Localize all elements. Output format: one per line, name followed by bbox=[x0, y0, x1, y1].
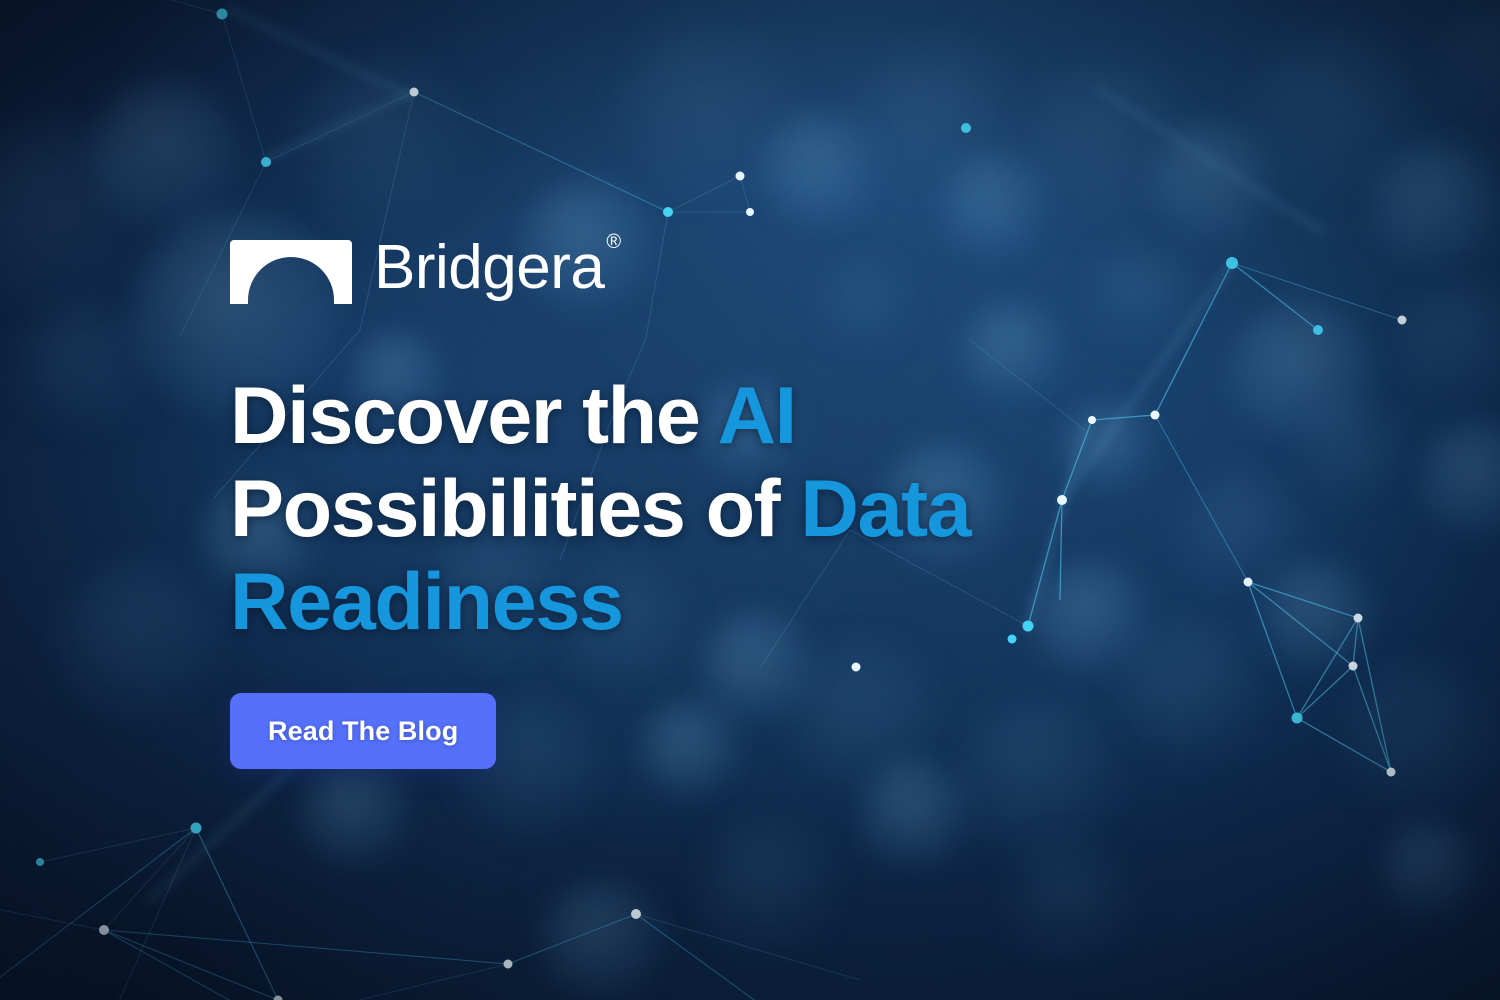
registered-mark: ® bbox=[606, 231, 620, 253]
read-the-blog-button[interactable]: Read The Blog bbox=[230, 693, 496, 769]
headline-line-2: Possibilities of Data bbox=[230, 463, 1110, 556]
banner-content: Bridgera® Discover the AI Possibilities … bbox=[230, 236, 1110, 769]
bridge-arch-logo-icon bbox=[230, 240, 352, 304]
headline-line-1: Discover the AI bbox=[230, 370, 1110, 463]
headline-line-3: Readiness bbox=[230, 556, 1110, 649]
marketing-banner: Bridgera® Discover the AI Possibilities … bbox=[0, 0, 1500, 1000]
headline-line-2-accent: Data bbox=[800, 464, 970, 554]
headline-line-1-plain: Discover the bbox=[230, 371, 718, 461]
brand-name: Bridgera bbox=[374, 233, 604, 302]
headline-line-1-accent: AI bbox=[718, 371, 796, 461]
page-title: Discover the AI Possibilities of Data Re… bbox=[230, 308, 1110, 649]
brand-logo[interactable]: Bridgera® bbox=[230, 236, 1110, 308]
headline-line-2-plain: Possibilities of bbox=[230, 464, 800, 554]
brand-name-wrapper: Bridgera® bbox=[374, 236, 619, 300]
